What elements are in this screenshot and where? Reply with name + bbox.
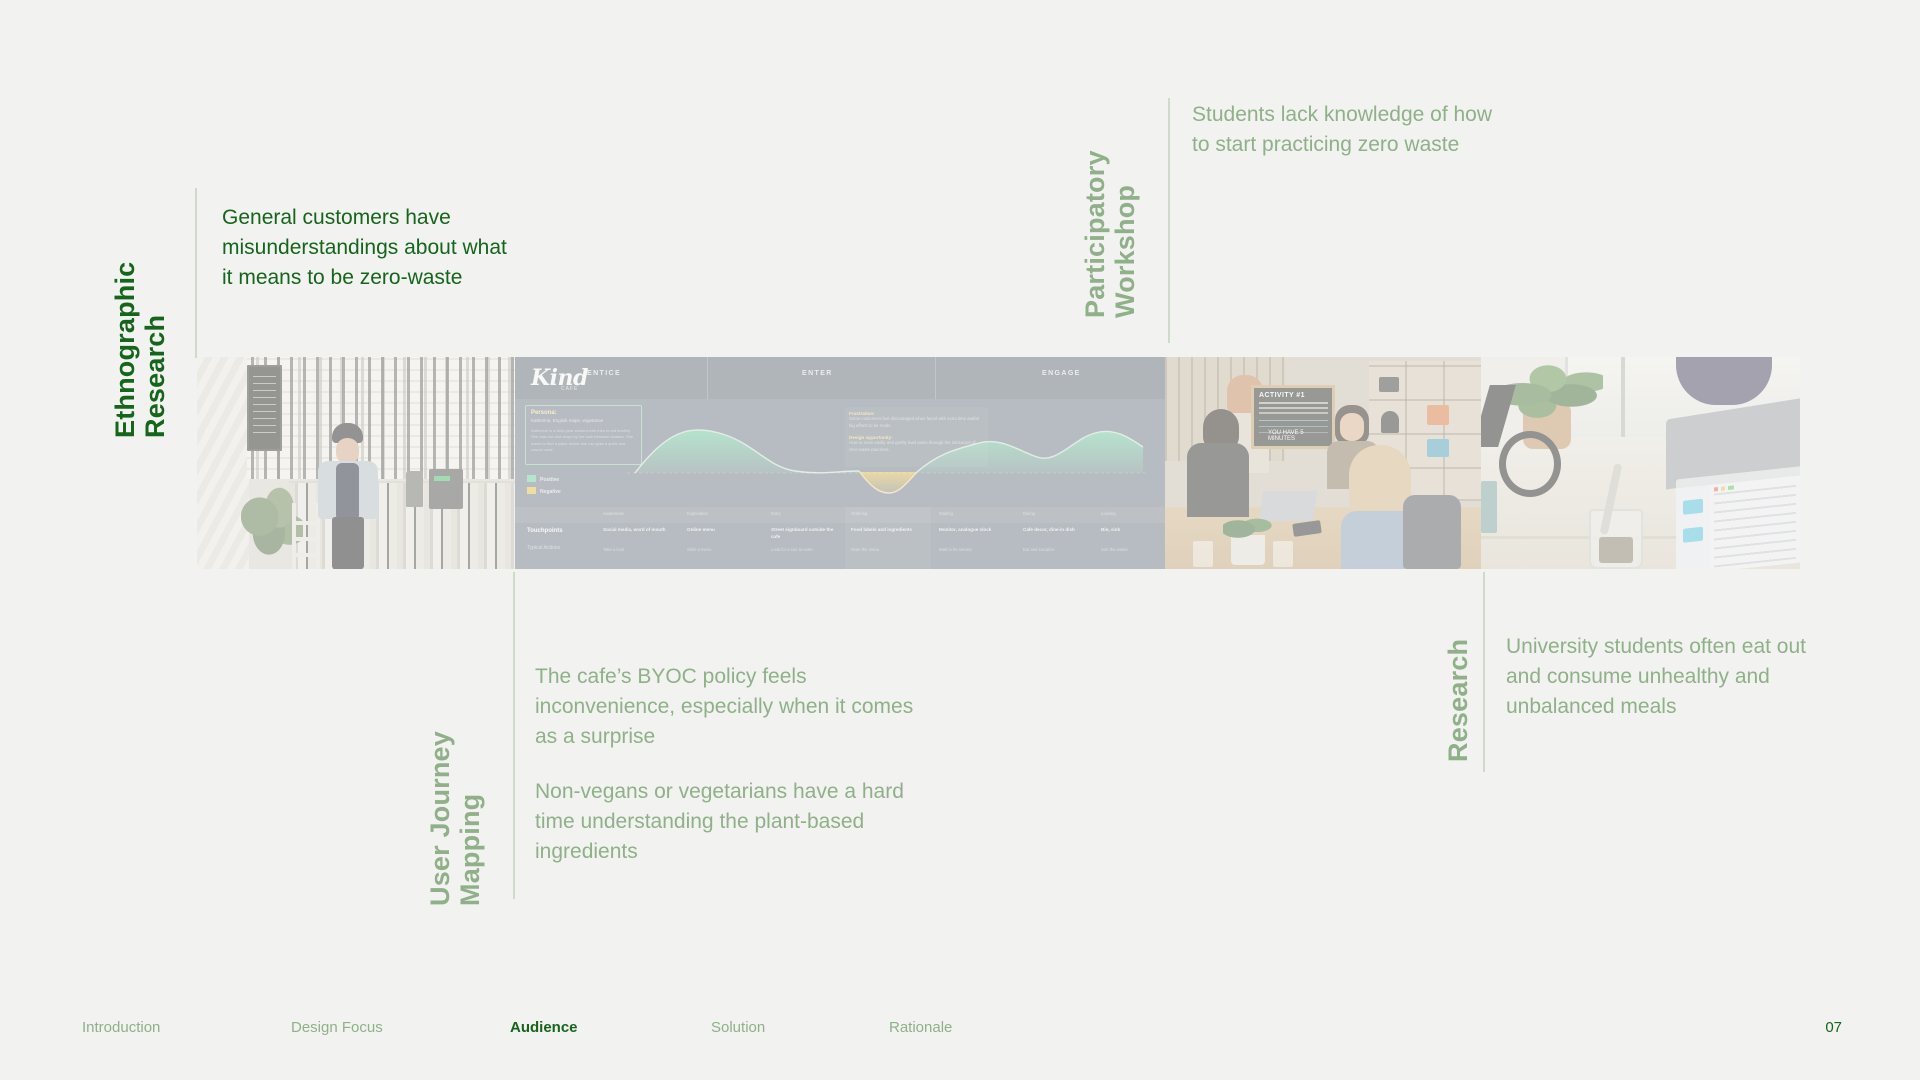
column-header: Exploration — [687, 510, 708, 517]
workshop-scene: ACTIVITY #1 YOU HAVE 5 MINUTES — [1165, 357, 1481, 569]
insight-user-journey-mapping: The cafe’s BYOC policy feels inconvenien… — [535, 662, 915, 867]
participatory-workshop-photo: ACTIVITY #1 YOU HAVE 5 MINUTES — [1165, 357, 1481, 569]
nav-item-audience[interactable]: Audience — [510, 1019, 711, 1036]
water-glass-icon — [1193, 541, 1213, 567]
cafe-scene — [197, 357, 515, 569]
touchpoint-cell: Food labels and ingredients — [851, 526, 927, 533]
action-cell: Scan the menu — [851, 546, 879, 553]
journey-map-callout: Frustration: Some customers feel discour… — [845, 407, 988, 467]
touchpoint-cell: Bin, sink — [1101, 526, 1159, 533]
action-cell: Eat and socialize — [1023, 546, 1055, 553]
touchpoint-cell: Monitor, analogue clock — [939, 526, 1011, 533]
journey-map-board: Kind CAFE ENTICE ENTER ENGAGE Persona: K… — [515, 357, 1165, 569]
touchpoint-cell: Social media, word of mouth — [603, 526, 675, 533]
insight-text: Students lack knowledge of how to start … — [1192, 100, 1502, 160]
phase-engage: ENGAGE — [1042, 370, 1081, 377]
notebook-icon — [1481, 481, 1497, 533]
desk-research-photo — [1481, 357, 1800, 569]
section-nav: Introduction Design Focus Audience Solut… — [82, 1019, 952, 1036]
column-header: Waiting — [939, 510, 953, 517]
drinks-chalkboard-icon — [247, 365, 282, 451]
insight-text: Non-vegans or vegetarians have a hard ti… — [535, 777, 915, 866]
user-journey-map-photo: Kind CAFE ENTICE ENTER ENGAGE Persona: K… — [515, 357, 1165, 569]
phase-enter: ENTER — [802, 370, 833, 377]
touchpoint-cell: Cafe decor, dine-in dish — [1023, 526, 1093, 533]
water-glass-icon — [1273, 541, 1293, 567]
action-cell: Sort the waste — [1101, 546, 1128, 553]
phase-divider — [707, 357, 708, 399]
journey-map-legend: Positive Negative — [527, 475, 561, 499]
phase-divider — [935, 357, 936, 399]
activity-heading: ACTIVITY #1 — [1259, 392, 1305, 399]
nav-item-introduction[interactable]: Introduction — [82, 1019, 291, 1036]
backpack-icon — [1403, 495, 1461, 569]
row-label-touchpoints: Touchpoints — [527, 527, 563, 535]
nav-item-solution[interactable]: Solution — [711, 1019, 889, 1036]
persona-subtitle: Katherine, English major, vegetarian — [531, 418, 603, 423]
page-number: 07 — [1825, 1019, 1842, 1036]
glass-jar-icon — [1589, 509, 1643, 569]
action-cell: Wait to be served — [939, 546, 971, 553]
laptop-icon — [1666, 409, 1800, 569]
desk-lamp-icon — [1481, 385, 1551, 481]
insight-text: University students often eat out and co… — [1506, 632, 1816, 721]
coffee-machine-icon — [429, 469, 463, 509]
action-cell: Take a look — [603, 546, 624, 553]
callout-frustration-body: Some customers feel discouraged when fac… — [849, 416, 984, 430]
kind-logo-sub: CAFE — [561, 386, 578, 392]
kind-logo: Kind — [531, 365, 588, 391]
legend-item-positive: Positive — [527, 475, 561, 483]
touchpoint-cell: Online menu — [687, 526, 759, 533]
activity-chalkboard: ACTIVITY #1 YOU HAVE 5 MINUTES — [1251, 385, 1335, 449]
insight-research: University students often eat out and co… — [1506, 632, 1816, 721]
column-header: Leaving — [1101, 510, 1116, 517]
action-cell: Skim a menu — [687, 546, 711, 553]
section-label-user-journey-mapping: User Journey Mapping — [425, 686, 485, 906]
divider-participatory — [1168, 98, 1170, 343]
touchpoint-cell: Street signboard outside the cafe — [771, 526, 843, 541]
persona-title: Persona: — [531, 410, 557, 416]
insight-text: General customers have misunderstandings… — [222, 203, 522, 292]
persona-card: Persona: Katherine, English major, veget… — [525, 405, 642, 465]
nav-item-rationale[interactable]: Rationale — [889, 1019, 952, 1036]
desk-scene — [1481, 357, 1800, 569]
column-header: Dining — [1023, 510, 1035, 517]
activity-timer: YOU HAVE 5 MINUTES — [1268, 430, 1332, 442]
divider-ethnographic — [195, 188, 197, 358]
cafe-interior-photo — [197, 357, 515, 569]
person-figure — [315, 423, 381, 569]
divider-journey-mapping — [513, 572, 515, 899]
plant-icon — [1231, 535, 1265, 565]
divider-research — [1483, 572, 1485, 772]
section-label-ethnographic-research: Ethnographic Research — [110, 198, 170, 438]
tile-wall — [247, 357, 515, 479]
row-label-typical-actions: Typical Actions — [527, 545, 560, 552]
action-cell: Look for a cue to enter — [771, 546, 813, 553]
column-header: Ordering — [851, 510, 867, 517]
slide-canvas: Ethnographic Research General customers … — [0, 0, 1920, 1080]
column-header: Entry — [771, 510, 781, 517]
journey-map-phase-bar — [515, 357, 1165, 399]
persona-body: Katherine is a third-year student who tr… — [531, 428, 636, 454]
insight-ethnographic-research: General customers have misunderstandings… — [222, 203, 522, 292]
phase-entice: ENTICE — [587, 370, 621, 377]
person-figure — [1187, 409, 1249, 517]
legend-item-negative: Negative — [527, 487, 561, 495]
slide-footer: Introduction Design Focus Audience Solut… — [0, 960, 1920, 1080]
callout-opportunity-body: How to more easily and gently lead users… — [849, 440, 984, 454]
nav-item-design-focus[interactable]: Design Focus — [291, 1019, 510, 1036]
section-label-participatory-workshop: Participatory Workshop — [1080, 98, 1140, 318]
window-frame — [1621, 357, 1625, 441]
column-header: Awareness — [603, 510, 624, 517]
photo-strip: Kind CAFE ENTICE ENTER ENGAGE Persona: K… — [197, 357, 1800, 569]
coffee-urn-icon — [406, 471, 423, 507]
insight-text: The cafe’s BYOC policy feels inconvenien… — [535, 662, 915, 751]
section-label-research: Research — [1443, 622, 1473, 762]
insight-participatory-workshop: Students lack knowledge of how to start … — [1192, 100, 1502, 160]
